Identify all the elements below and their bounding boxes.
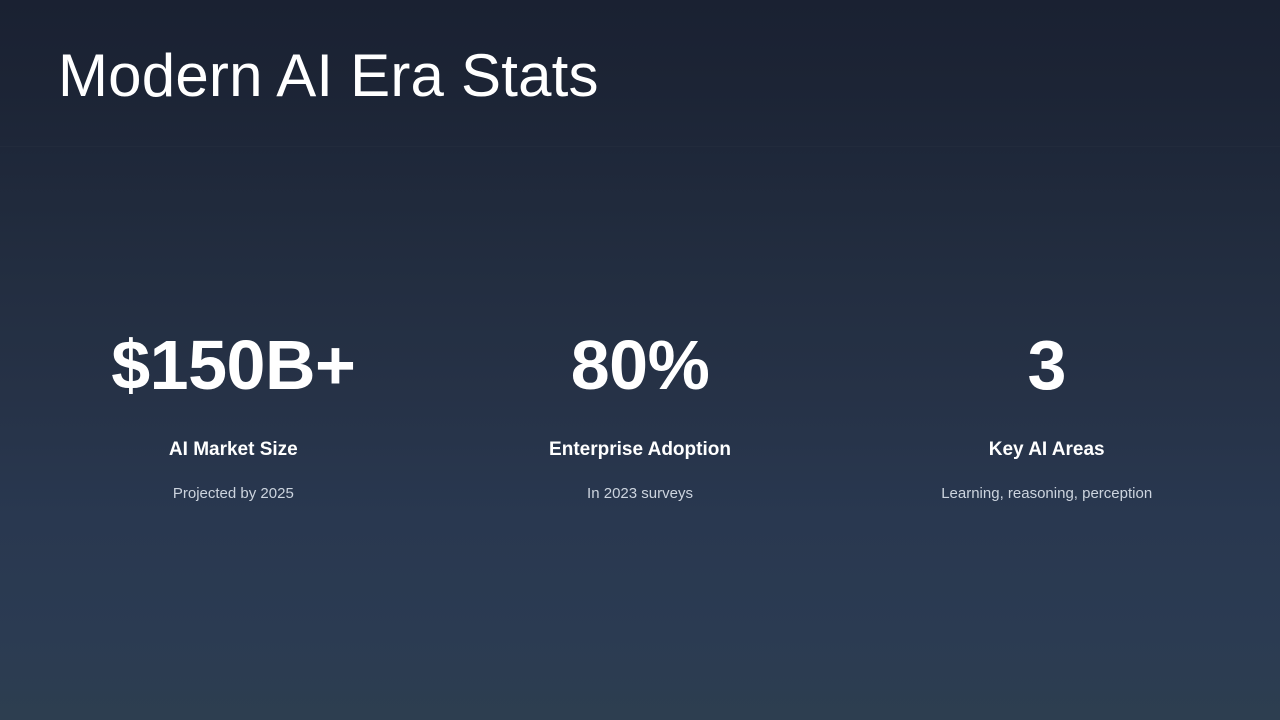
stat-label: Enterprise Adoption	[549, 439, 731, 462]
stat-sublabel: In 2023 surveys	[587, 485, 693, 503]
stat-sublabel: Learning, reasoning, perception	[941, 485, 1152, 503]
stat-sublabel: Projected by 2025	[173, 485, 294, 503]
stat-card-key-ai-areas: 3 Key AI Areas Learning, reasoning, perc…	[843, 330, 1250, 503]
slide-header: Modern AI Era Stats	[0, 0, 1280, 146]
page-title: Modern AI Era Stats	[58, 43, 599, 109]
header-divider	[0, 146, 1280, 147]
stat-label: Key AI Areas	[989, 439, 1105, 462]
stat-value: $150B+	[111, 330, 355, 400]
presentation-slide: Modern AI Era Stats $150B+ AI Market Siz…	[0, 0, 1280, 720]
stat-card-enterprise-adoption: 80% Enterprise Adoption In 2023 surveys	[437, 330, 844, 503]
stats-row: $150B+ AI Market Size Projected by 2025 …	[30, 330, 1250, 503]
stat-label: AI Market Size	[169, 439, 298, 462]
stat-value: 3	[1027, 330, 1065, 400]
stat-value: 80%	[571, 330, 710, 400]
stat-card-ai-market-size: $150B+ AI Market Size Projected by 2025	[30, 330, 437, 503]
